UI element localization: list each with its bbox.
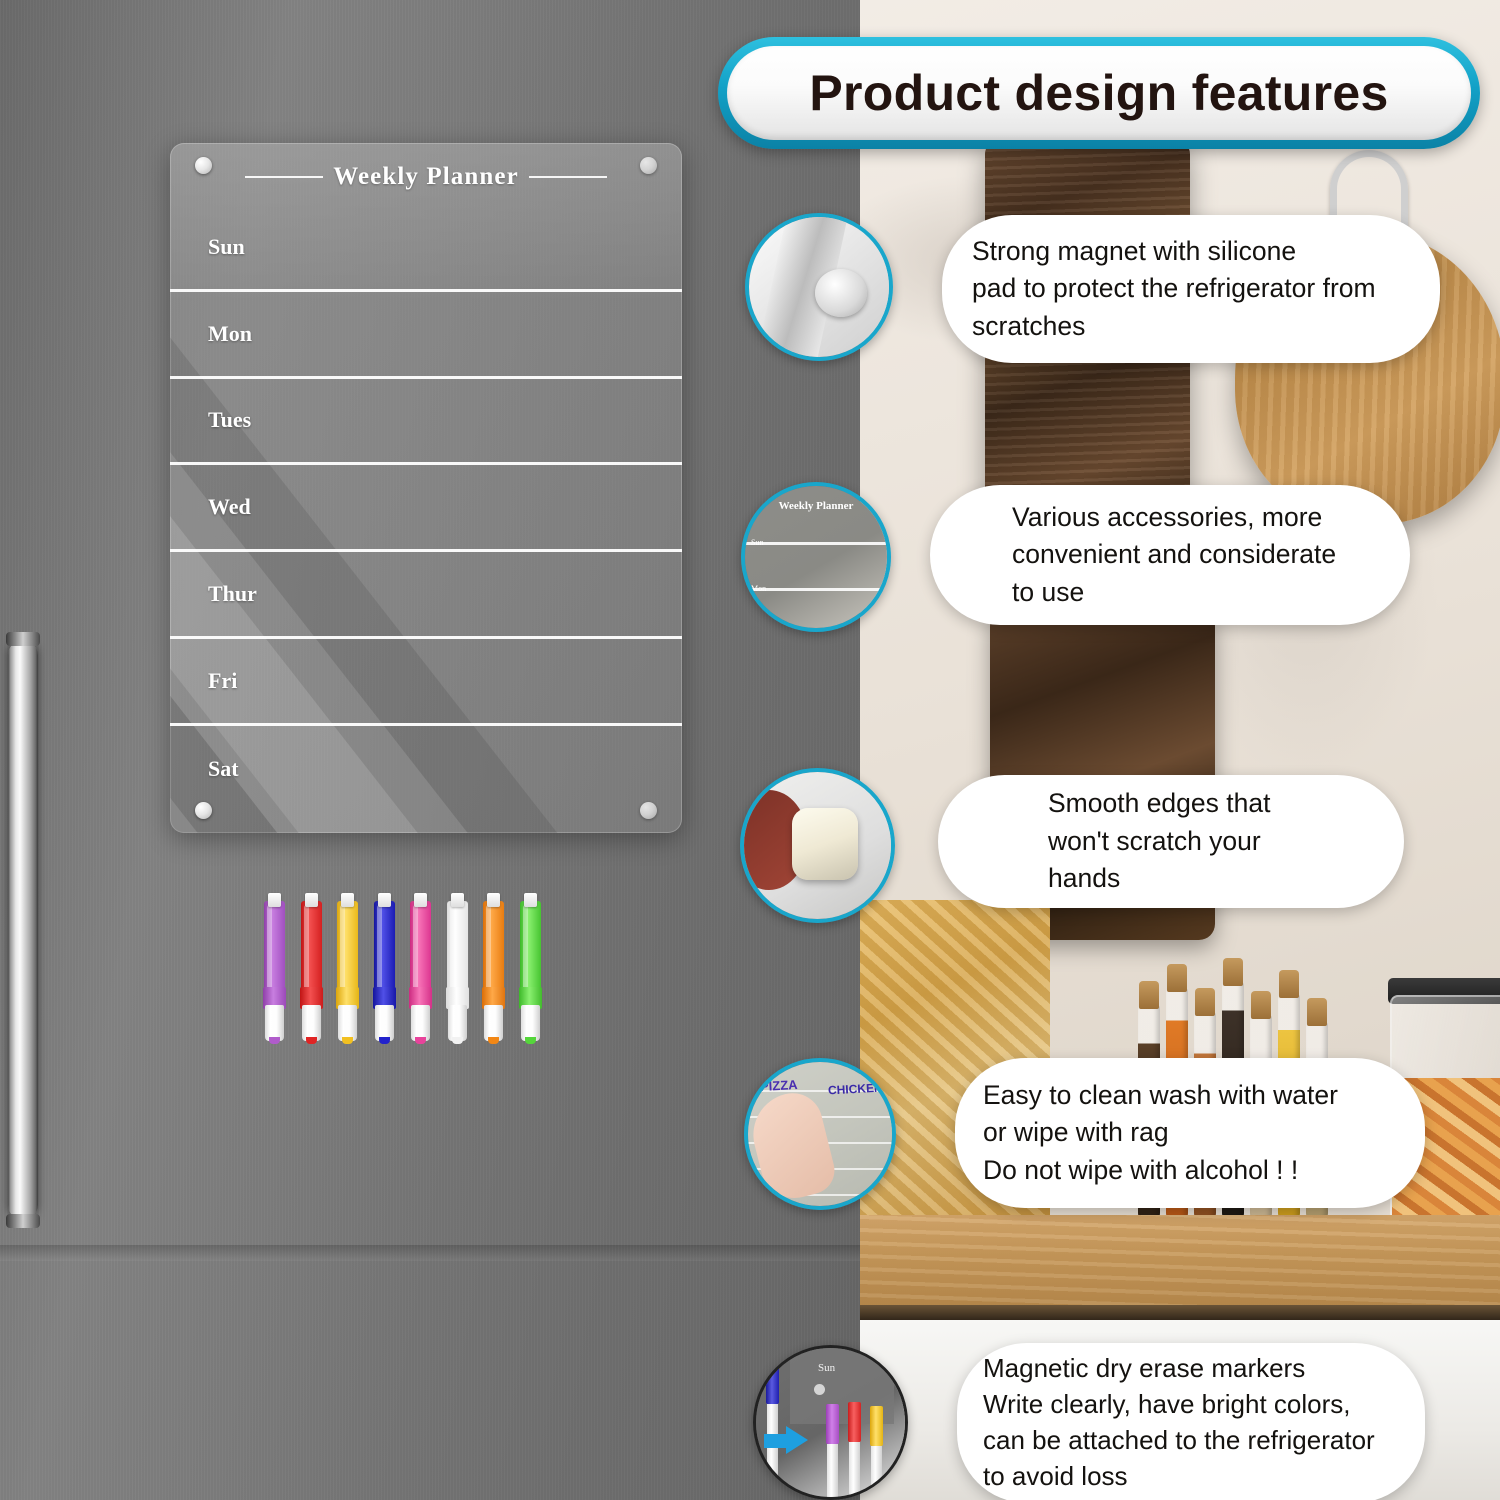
planner-row-mon[interactable]: Mon [170, 292, 682, 379]
feature-line: can be attached to the refrigerator [983, 1423, 1399, 1459]
feature-line: pad to protect the refrigerator from [972, 270, 1410, 308]
magnet-on-silicone-thumbnail[interactable] [740, 768, 895, 923]
planner-row-sun[interactable]: Sun [170, 205, 682, 292]
marker-barrel [302, 1005, 321, 1041]
marker-red[interactable] [299, 893, 324, 1043]
thumbnail-written-word: PIZZA [760, 1077, 798, 1094]
marker-orange[interactable] [481, 893, 506, 1043]
feature-line: Write clearly, have bright colors, [983, 1387, 1399, 1423]
planner-row-thur[interactable]: Thur [170, 552, 682, 639]
planner-title: Weekly Planner [333, 163, 519, 191]
day-label: Fri [208, 668, 237, 694]
feature-line: to use [1012, 574, 1328, 612]
feature-line: scratches [972, 308, 1410, 346]
marker-clip [524, 893, 537, 907]
thumbnail-image: Weekly Planner Sun Mon [745, 486, 887, 628]
planner-day-rows: Sun Mon Tues Wed Thur Fri Sat [170, 205, 682, 813]
thumbnail-image [749, 217, 889, 357]
fridge-door-seam [0, 1245, 860, 1261]
feature-callout-magnetic-markers: Magnetic dry erase markers Write clearly… [957, 1343, 1425, 1500]
marker-yellow[interactable] [335, 893, 360, 1043]
feature-line: Smooth edges that [1048, 785, 1294, 823]
marker-white[interactable] [445, 893, 470, 1043]
corner-magnet-icon[interactable] [640, 802, 657, 819]
planner-row-sat[interactable]: Sat [170, 726, 682, 813]
header-rule-right [529, 176, 607, 178]
marker-barrel [411, 1005, 430, 1041]
countertop-edge [860, 1305, 1500, 1321]
marker-barrel [338, 1005, 357, 1041]
thumbnail-rule-lines [745, 542, 887, 632]
marker-barrel [265, 1005, 284, 1041]
feature-line: Do not wipe with alcohol ! ! [983, 1152, 1397, 1190]
feature-callout-smooth-edges: Smooth edges that won't scratch your han… [938, 775, 1404, 908]
feature-line: to avoid loss [983, 1459, 1399, 1495]
marker-barrel [448, 1005, 467, 1041]
thumbnail-image: PIZZA CHICKEN [748, 1062, 892, 1206]
marker-clip [451, 893, 464, 907]
corner-magnet-icon[interactable] [195, 802, 212, 819]
marker-green[interactable] [518, 893, 543, 1043]
weekly-planner-board-thumbnail[interactable]: Weekly Planner Sun Mon [741, 482, 891, 632]
marker-clip [487, 893, 500, 907]
planner-row-fri[interactable]: Fri [170, 639, 682, 726]
feature-line: Various accessories, more [1012, 499, 1328, 537]
thumbnail-day-label: Sun [818, 1362, 835, 1374]
feature-line: Easy to clean wash with water [983, 1077, 1397, 1115]
title-banner: Product design features [718, 37, 1480, 149]
thumbnail-caption: Weekly Planner [745, 500, 887, 512]
day-label: Thur [208, 581, 257, 607]
marker-blue[interactable] [372, 893, 397, 1043]
marker-pink[interactable] [408, 893, 433, 1043]
feature-line: Strong magnet with silicone [972, 233, 1410, 271]
corner-magnet-icon[interactable] [640, 157, 657, 174]
day-label: Sat [208, 756, 239, 782]
marker-clip [305, 893, 318, 907]
marker-barrel [375, 1005, 394, 1041]
acrylic-weekly-planner-board[interactable]: Weekly Planner Sun Mon Tues Wed Thur Fri… [170, 143, 682, 833]
page-title: Product design features [809, 64, 1388, 122]
marker-barrel [521, 1005, 540, 1041]
feature-callout-accessories: Various accessories, more convenient and… [930, 485, 1410, 625]
arrow-icon [786, 1426, 808, 1454]
planner-row-tues[interactable]: Tues [170, 379, 682, 466]
marker-barrel [484, 1005, 503, 1041]
feature-line: hands [1048, 860, 1294, 898]
day-label: Wed [208, 494, 251, 520]
marker-purple-icon [826, 1404, 839, 1500]
marker-clip [378, 893, 391, 907]
magnetic-markers-on-fridge-thumbnail[interactable]: Sun [753, 1345, 908, 1500]
day-label: Sun [208, 234, 245, 260]
planner-row-wed[interactable]: Wed [170, 465, 682, 552]
hand-wiping-board-thumbnail[interactable]: PIZZA CHICKEN [744, 1058, 896, 1210]
planner-header: Weekly Planner [170, 157, 682, 197]
day-label: Tues [208, 407, 251, 433]
header-rule-left [245, 176, 323, 178]
corner-magnet-icon [814, 1384, 825, 1395]
dry-erase-marker-set [262, 893, 552, 1043]
corner-magnet-icon[interactable] [195, 157, 212, 174]
feature-line: won't scratch your [1048, 823, 1294, 861]
thumbnail-image [744, 772, 891, 919]
marker-purple[interactable] [262, 893, 287, 1043]
marker-clip [268, 893, 281, 907]
feature-callout-easy-clean: Easy to clean wash with water or wipe wi… [955, 1058, 1425, 1208]
magnet-silicone-pad-thumbnail[interactable] [745, 213, 893, 361]
feature-line: convenient and considerate [1012, 536, 1328, 574]
feature-callout-magnet: Strong magnet with silicone pad to prote… [942, 215, 1440, 363]
marker-clip [414, 893, 427, 907]
feature-line: or wipe with rag [983, 1114, 1397, 1152]
wooden-countertop [860, 1215, 1500, 1310]
marker-clip [341, 893, 354, 907]
marker-yellow-icon [870, 1406, 883, 1500]
day-label: Mon [208, 321, 252, 347]
marker-red-icon [848, 1402, 861, 1500]
title-banner-inner: Product design features [727, 46, 1471, 140]
feature-line: Magnetic dry erase markers [983, 1351, 1399, 1387]
marker-blue-icon [766, 1364, 779, 1476]
thumbnail-written-word: CHICKEN [828, 1081, 883, 1098]
thumbnail-image: Sun [756, 1348, 905, 1497]
refrigerator-handle[interactable] [8, 640, 38, 1220]
